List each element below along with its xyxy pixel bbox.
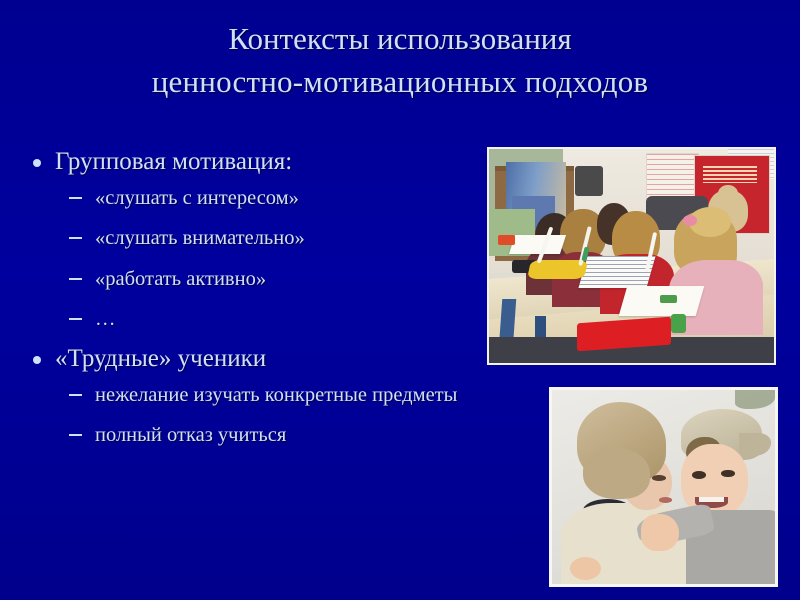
classroom-scene [489,149,774,363]
notebook-shape [578,256,656,288]
dash-icon [69,434,82,436]
slide-title: Контексты использования ценностно-мотива… [40,18,760,104]
sub-bullet-text: «работать активно» [95,266,470,293]
slide-title-line-1: Контексты использования [40,18,760,61]
presentation-slide: Контексты использования ценностно-мотива… [0,0,800,600]
mouth-shape [659,497,672,503]
bullet-list-level-1: Групповая мотивация: «слушать с интересо… [0,146,470,449]
sub-bullet-item: «работать активно» [55,266,470,293]
dash-icon [69,237,82,239]
dash-icon [69,318,82,320]
sub-bullet-item: полный отказ учиться [55,422,470,449]
bullet-dot-icon [33,356,41,364]
classroom-children-writing-photo [487,147,776,365]
hand-shape [641,514,679,551]
sub-bullet-text: полный отказ учиться [95,422,470,449]
bullet-text: «Трудные» ученики [55,343,470,376]
dash-icon [69,197,82,199]
dark-object-shape [575,166,604,196]
eye-shape [721,470,734,478]
bullet-item-group-motivation: Групповая мотивация: «слушать с интересо… [0,146,470,333]
two-boys-hugging-photo [549,387,778,587]
green-object-shape [671,314,685,333]
bullet-text: Групповая мотивация: [55,146,470,179]
wall-chart-shape [646,153,699,202]
teeth-shape [699,497,724,502]
red-object-shape [498,235,515,246]
bullet-list-level-2: нежелание изучать конкретные предметы по… [55,382,470,449]
bullet-dot-icon [33,159,41,167]
two-boys-scene [552,390,775,584]
blond-hair-shape [583,448,650,498]
dash-icon [69,394,82,396]
sub-bullet-text: «слушать внимательно» [95,225,470,252]
sub-bullet-item: «слушать с интересом» [55,185,470,212]
hair-tie-shape [683,215,697,226]
poster-title-lines [703,166,757,183]
sub-bullet-text: нежелание изучать конкретные предметы [95,382,470,409]
sub-bullet-item: … [55,306,470,333]
hand-shape [570,557,601,580]
slide-title-line-2: ценностно-мотивационных подходов [40,61,760,104]
sub-bullet-text: … [95,306,470,333]
green-object-shape [660,295,677,304]
sub-bullet-item: «слушать внимательно» [55,225,470,252]
sub-bullet-text: «слушать с интересом» [95,185,470,212]
bullet-item-difficult-students: «Трудные» ученики нежелание изучать конк… [0,343,470,449]
notebook-shape [509,235,567,254]
sub-bullet-item: нежелание изучать конкретные предметы [55,382,470,409]
dash-icon [69,278,82,280]
bullet-list-level-2: «слушать с интересом» «слушать вниматель… [55,185,470,334]
slide-body: Групповая мотивация: «слушать с интересо… [0,146,470,459]
